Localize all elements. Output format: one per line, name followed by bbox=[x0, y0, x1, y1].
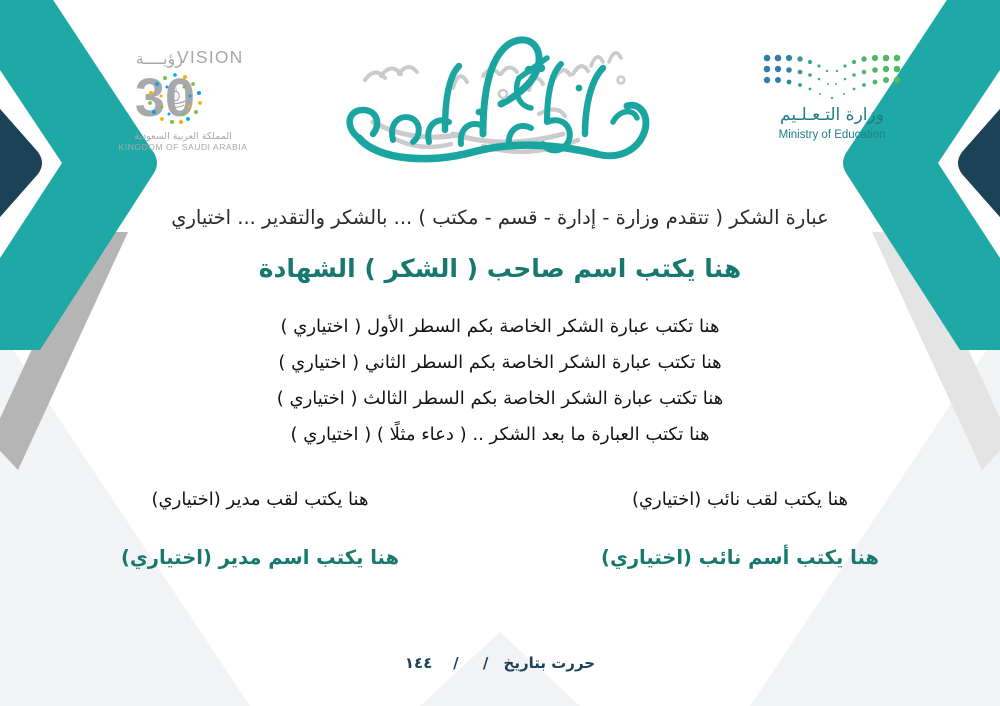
vision-year-2: 2 bbox=[103, 68, 105, 128]
certificate-page: VISION رؤيــــة 2 30 bbox=[0, 0, 1000, 706]
footer-date-separator-1: / bbox=[483, 654, 489, 672]
vision-wordmark-en: VISION bbox=[177, 47, 244, 67]
recipient-name-placeholder: هنا يكتب اسم صاحب ( الشكر ) الشهادة bbox=[0, 254, 1000, 283]
thanks-intro-line: عبارة الشكر ( تتقدم وزارة - إدارة - قسم … bbox=[0, 206, 1000, 229]
footer-date-label: حررت بتاريخ bbox=[504, 654, 596, 672]
vision-subtitle-en: KINGDOM OF SAUDI ARABIA bbox=[119, 142, 248, 152]
director-title: هنا يكتب لقب مدير (اختياري) bbox=[120, 489, 400, 510]
director-name: هنا يكتب اسم مدير (اختياري) bbox=[120, 546, 400, 569]
moe-dot-emblem bbox=[764, 55, 901, 99]
navy-chevron-right bbox=[958, 68, 1000, 258]
signature-block-director: هنا يكتب لقب مدير (اختياري) هنا يكتب اسم… bbox=[120, 489, 400, 569]
body-line-3: هنا تكتب عبارة الشكر الخاصة بكم السطر ال… bbox=[0, 388, 1000, 409]
vision-subtitle-ar: المملكة العربية السعودية bbox=[134, 131, 231, 142]
ministry-of-education-logo: وزارة التـعـلـيم Ministry of Education bbox=[757, 46, 907, 146]
signature-block-deputy: هنا يكتب لقب نائب (اختياري) هنا يكتب أسم… bbox=[600, 489, 880, 569]
footer-date-separator-2: / bbox=[453, 654, 459, 672]
moe-name-en: Ministry of Education bbox=[779, 129, 886, 141]
deputy-name: هنا يكتب أسم نائب (اختياري) bbox=[600, 546, 880, 569]
moe-name-ar: وزارة التـعـلـيم bbox=[780, 105, 884, 125]
certificate-title-calligraphy bbox=[333, 18, 673, 178]
deputy-title: هنا يكتب لقب نائب (اختياري) bbox=[600, 489, 880, 510]
footer-date-line: حررت بتاريخ / / ١٤٤ bbox=[0, 654, 1000, 672]
body-line-4: هنا تكتب العبارة ما بعد الشكر .. ( دعاء … bbox=[0, 424, 1000, 445]
navy-chevron-left bbox=[0, 68, 42, 258]
vision-wordmark-ar: رؤيــــة bbox=[136, 49, 183, 69]
vision-2030-logo: VISION رؤيــــة 2 30 bbox=[103, 44, 263, 154]
footer-hijri-year: ١٤٤ bbox=[405, 654, 432, 672]
body-line-1: هنا تكتب عبارة الشكر الخاصة بكم السطر ال… bbox=[0, 316, 1000, 337]
body-line-2: هنا تكتب عبارة الشكر الخاصة بكم السطر ال… bbox=[0, 352, 1000, 373]
